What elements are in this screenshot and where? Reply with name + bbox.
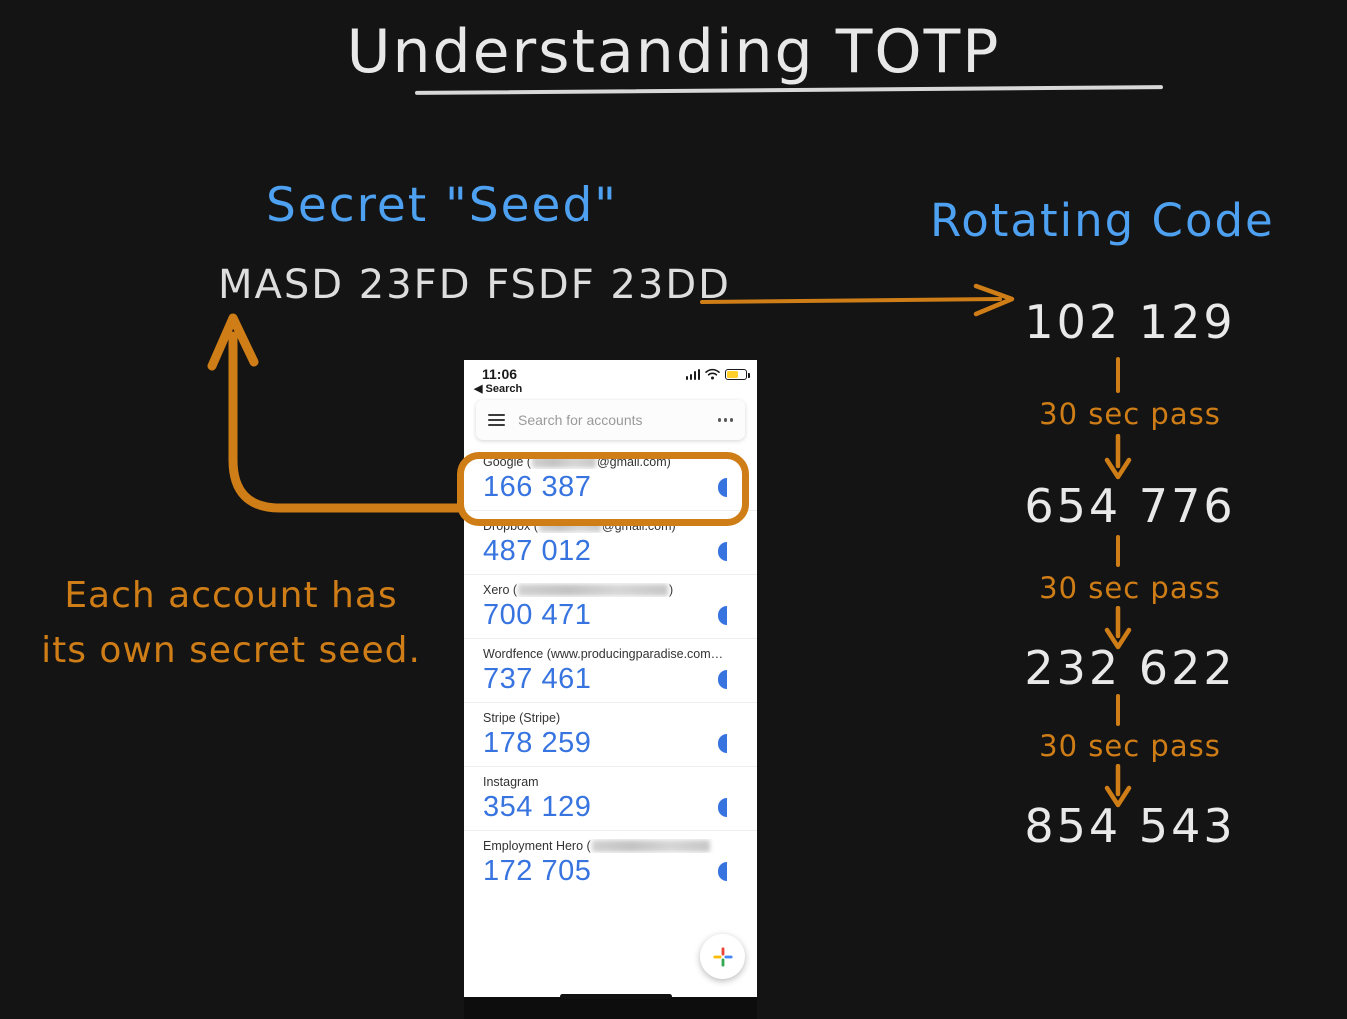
transition-arrow-0-icon bbox=[1100, 434, 1136, 480]
account-label: Dropbox ( @gmail.com) bbox=[483, 519, 743, 533]
page-title: Understanding TOTP bbox=[0, 16, 1347, 88]
redacted-email bbox=[532, 456, 596, 468]
account-row[interactable]: Instagram 354 129 bbox=[464, 767, 757, 831]
search-input[interactable]: Search for accounts bbox=[476, 400, 745, 440]
google-plus-add-icon bbox=[711, 945, 735, 969]
account-domain: @gmail.com) bbox=[602, 519, 676, 533]
redacted-email bbox=[518, 584, 668, 596]
redacted-email bbox=[592, 840, 710, 852]
home-indicator-bar bbox=[464, 997, 757, 1019]
account-row[interactable]: Stripe (Stripe) 178 259 bbox=[464, 703, 757, 767]
account-row[interactable]: Dropbox ( @gmail.com) 487 012 bbox=[464, 511, 757, 575]
account-row[interactable]: Wordfence (www.producingparadise.com… 73… bbox=[464, 639, 757, 703]
wifi-icon bbox=[705, 368, 720, 380]
transition-line-2 bbox=[1116, 694, 1120, 726]
countdown-indicator-icon bbox=[718, 734, 736, 753]
countdown-indicator-icon bbox=[718, 542, 736, 561]
rotating-code-2: 232 622 bbox=[980, 640, 1280, 696]
account-name: Instagram bbox=[483, 775, 539, 789]
transition-label-1: 30 sec pass bbox=[980, 570, 1280, 606]
phone-screenshot: 11:06 ◀ Search Search for accounts Googl… bbox=[464, 360, 757, 1019]
countdown-indicator-icon bbox=[718, 670, 736, 689]
rotating-code-1: 654 776 bbox=[980, 478, 1280, 534]
account-domain: @gmail.com) bbox=[597, 455, 671, 469]
account-label: Stripe (Stripe) bbox=[483, 711, 743, 725]
redacted-email bbox=[539, 520, 601, 532]
status-icons bbox=[686, 368, 748, 380]
account-label: Wordfence (www.producingparadise.com… bbox=[483, 647, 743, 661]
account-code[interactable]: 487 012 bbox=[483, 534, 743, 568]
account-row[interactable]: Google ( @gmail.com) 166 387 bbox=[464, 447, 757, 511]
account-name: Stripe (Stripe) bbox=[483, 711, 560, 725]
overflow-menu-icon[interactable] bbox=[718, 418, 733, 421]
battery-low-power-icon bbox=[725, 369, 747, 380]
account-code[interactable]: 178 259 bbox=[483, 726, 743, 760]
rotating-code-heading: Rotating Code bbox=[930, 194, 1275, 248]
countdown-indicator-icon bbox=[718, 606, 736, 625]
transition-label-0: 30 sec pass bbox=[980, 396, 1280, 432]
account-label: Xero ( ) bbox=[483, 583, 743, 597]
search-placeholder: Search for accounts bbox=[518, 412, 718, 428]
rotating-code-3: 854 543 bbox=[980, 798, 1280, 854]
add-account-button[interactable] bbox=[700, 934, 745, 979]
transition-line-1 bbox=[1116, 535, 1120, 567]
secret-seed-note: Each account has its own secret seed. bbox=[36, 568, 426, 678]
countdown-indicator-icon bbox=[718, 478, 736, 497]
account-name: Xero ( bbox=[483, 583, 517, 597]
countdown-indicator-icon bbox=[718, 798, 736, 817]
account-domain: ) bbox=[669, 583, 673, 597]
account-code[interactable]: 166 387 bbox=[483, 470, 743, 504]
back-to-search-link[interactable]: ◀ Search bbox=[474, 382, 522, 395]
account-code[interactable]: 354 129 bbox=[483, 790, 743, 824]
account-name: Wordfence (www.producingparadise.com… bbox=[483, 647, 723, 661]
hamburger-icon[interactable] bbox=[488, 414, 505, 426]
slide-canvas: Understanding TOTP Secret "Seed" Rotatin… bbox=[0, 0, 1347, 1019]
title-block: Understanding TOTP bbox=[0, 16, 1347, 88]
transition-line-0 bbox=[1116, 357, 1120, 393]
account-label: Instagram bbox=[483, 775, 743, 789]
account-row[interactable]: Employment Hero ( 172 705 bbox=[464, 831, 757, 894]
account-name: Dropbox ( bbox=[483, 519, 538, 533]
status-bar: 11:06 ◀ Search bbox=[464, 360, 757, 394]
status-time: 11:06 bbox=[482, 366, 517, 382]
account-name: Employment Hero ( bbox=[483, 839, 591, 853]
account-name: Google ( bbox=[483, 455, 531, 469]
transition-label-2: 30 sec pass bbox=[980, 728, 1280, 764]
account-label: Employment Hero ( bbox=[483, 839, 743, 853]
account-label: Google ( @gmail.com) bbox=[483, 455, 743, 469]
account-list: Google ( @gmail.com) 166 387 Dropbox ( @… bbox=[464, 447, 757, 894]
account-code[interactable]: 172 705 bbox=[483, 854, 743, 888]
countdown-indicator-icon bbox=[718, 862, 736, 881]
account-row[interactable]: Xero ( ) 700 471 bbox=[464, 575, 757, 639]
signal-bars-icon bbox=[686, 369, 701, 380]
account-code[interactable]: 737 461 bbox=[483, 662, 743, 696]
rotating-code-0: 102 129 bbox=[980, 294, 1280, 350]
home-indicator-pill[interactable] bbox=[560, 994, 672, 999]
account-code[interactable]: 700 471 bbox=[483, 598, 743, 632]
secret-seed-heading: Secret "Seed" bbox=[266, 178, 618, 234]
